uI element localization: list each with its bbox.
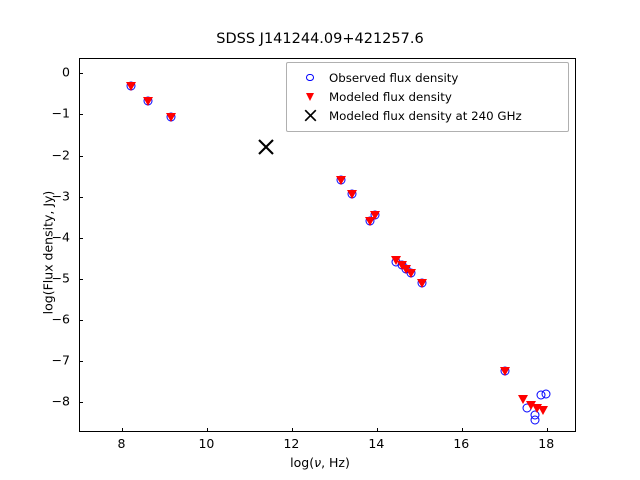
open-circle-marker-icon xyxy=(295,74,325,82)
modeled-flux-point xyxy=(347,190,357,199)
modeled-flux-point xyxy=(166,113,176,122)
down-triangle-marker-icon xyxy=(295,93,325,101)
legend-label-modeled: Modeled flux density xyxy=(325,90,452,104)
modeled-flux-point xyxy=(500,367,510,376)
y-tick xyxy=(79,114,83,115)
x-tick xyxy=(207,428,208,432)
modeled-flux-point xyxy=(126,82,136,91)
observed-flux-point xyxy=(531,416,540,425)
y-tick xyxy=(79,320,83,321)
y-tick xyxy=(79,279,83,280)
y-tick xyxy=(79,156,83,157)
y-tick xyxy=(79,238,83,239)
modeled-flux-point xyxy=(143,96,153,105)
modeled-flux-point xyxy=(370,211,380,220)
y-tick xyxy=(79,361,83,362)
x-tick-label: 18 xyxy=(538,436,554,451)
modeled-flux-point xyxy=(538,406,548,415)
x-tick-label: 14 xyxy=(368,436,384,451)
y-tick xyxy=(79,197,83,198)
x-tick-label: 12 xyxy=(283,436,299,451)
legend-label-modeled-240ghz: Modeled flux density at 240 GHz xyxy=(325,109,522,123)
modeled-240ghz-point xyxy=(257,137,276,156)
x-cross-marker-icon xyxy=(295,108,325,123)
y-tick xyxy=(79,73,83,74)
x-tick xyxy=(292,428,293,432)
modeled-flux-point xyxy=(336,176,346,185)
x-tick-label: 8 xyxy=(117,436,125,451)
x-tick-label: 16 xyxy=(453,436,469,451)
modeled-flux-point xyxy=(406,269,416,278)
x-axis-label: log(ν, Hz) xyxy=(0,455,640,470)
x-tick xyxy=(377,428,378,432)
legend-item-modeled-240ghz: Modeled flux density at 240 GHz xyxy=(295,106,560,125)
x-tick xyxy=(462,428,463,432)
y-axis-label: log(Flux density, Jy) xyxy=(41,123,56,383)
legend-item-observed: Observed flux density xyxy=(295,68,560,87)
chart-legend: Observed flux density Modeled flux densi… xyxy=(286,62,569,132)
modeled-flux-point xyxy=(417,279,427,288)
legend-item-modeled: Modeled flux density xyxy=(295,87,560,106)
x-tick-label: 10 xyxy=(198,436,214,451)
legend-label-observed: Observed flux density xyxy=(325,71,458,85)
x-tick xyxy=(547,428,548,432)
x-tick xyxy=(122,428,123,432)
observed-flux-point xyxy=(542,389,551,398)
figure-canvas: SDSS J141244.09+421257.6 810121416180−1−… xyxy=(0,0,640,480)
y-tick xyxy=(79,402,83,403)
page-title: SDSS J141244.09+421257.6 xyxy=(0,31,640,47)
